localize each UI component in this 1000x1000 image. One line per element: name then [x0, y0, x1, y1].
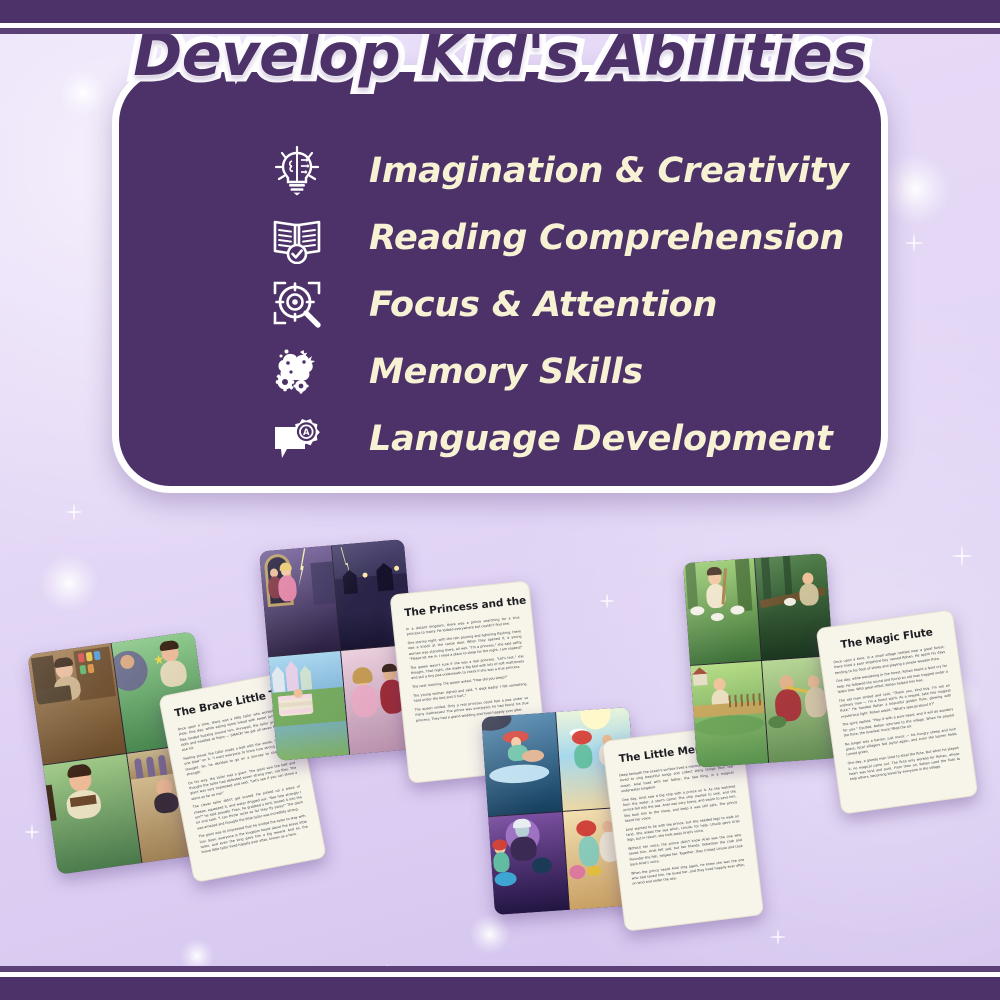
ability-item-imagination[interactable]: Imagination & Creativity — [269, 138, 845, 203]
target-magnifier-icon — [269, 277, 325, 333]
svg-text:A: A — [303, 427, 310, 437]
brain-gears-icon — [269, 344, 325, 400]
ability-label: Language Development — [369, 419, 833, 459]
ability-label: Imagination & Creativity — [369, 151, 849, 191]
magic-flute-story-card[interactable]: The Magic Flute Once upon a time, in a s… — [816, 609, 979, 814]
ability-item-focus[interactable]: Focus & Attention — [269, 272, 845, 337]
top-frame-band — [0, 0, 1000, 34]
card-title: The Princess and the Pea — [404, 595, 519, 619]
ability-label: Focus & Attention — [369, 285, 717, 325]
open-book-check-icon — [269, 210, 325, 266]
ability-item-memory[interactable]: Memory Skills — [269, 339, 845, 404]
ability-item-language[interactable]: A Language Development — [269, 406, 845, 471]
card-body: Once upon a time, in a small village nes… — [833, 645, 962, 786]
ability-list: Imagination & Creativity — [119, 138, 881, 473]
ability-label: Memory Skills — [369, 352, 643, 392]
magic-flute-illustration[interactable] — [683, 553, 840, 767]
ability-label: Reading Comprehension — [369, 218, 844, 258]
ability-item-reading[interactable]: Reading Comprehension — [269, 205, 845, 270]
speech-bubble-badge-icon: A — [269, 411, 325, 467]
card-body: In a distant kingdom, there was a prince… — [406, 615, 530, 727]
bottom-frame-band — [0, 966, 1000, 1000]
card-body: Deep beneath the ocean's surface lived a… — [619, 760, 747, 891]
poster-root: Develop Kid's Abilities — [0, 0, 1000, 1000]
lightbulb-brain-icon — [269, 143, 325, 199]
hero-panel: Develop Kid's Abilities — [112, 65, 888, 493]
